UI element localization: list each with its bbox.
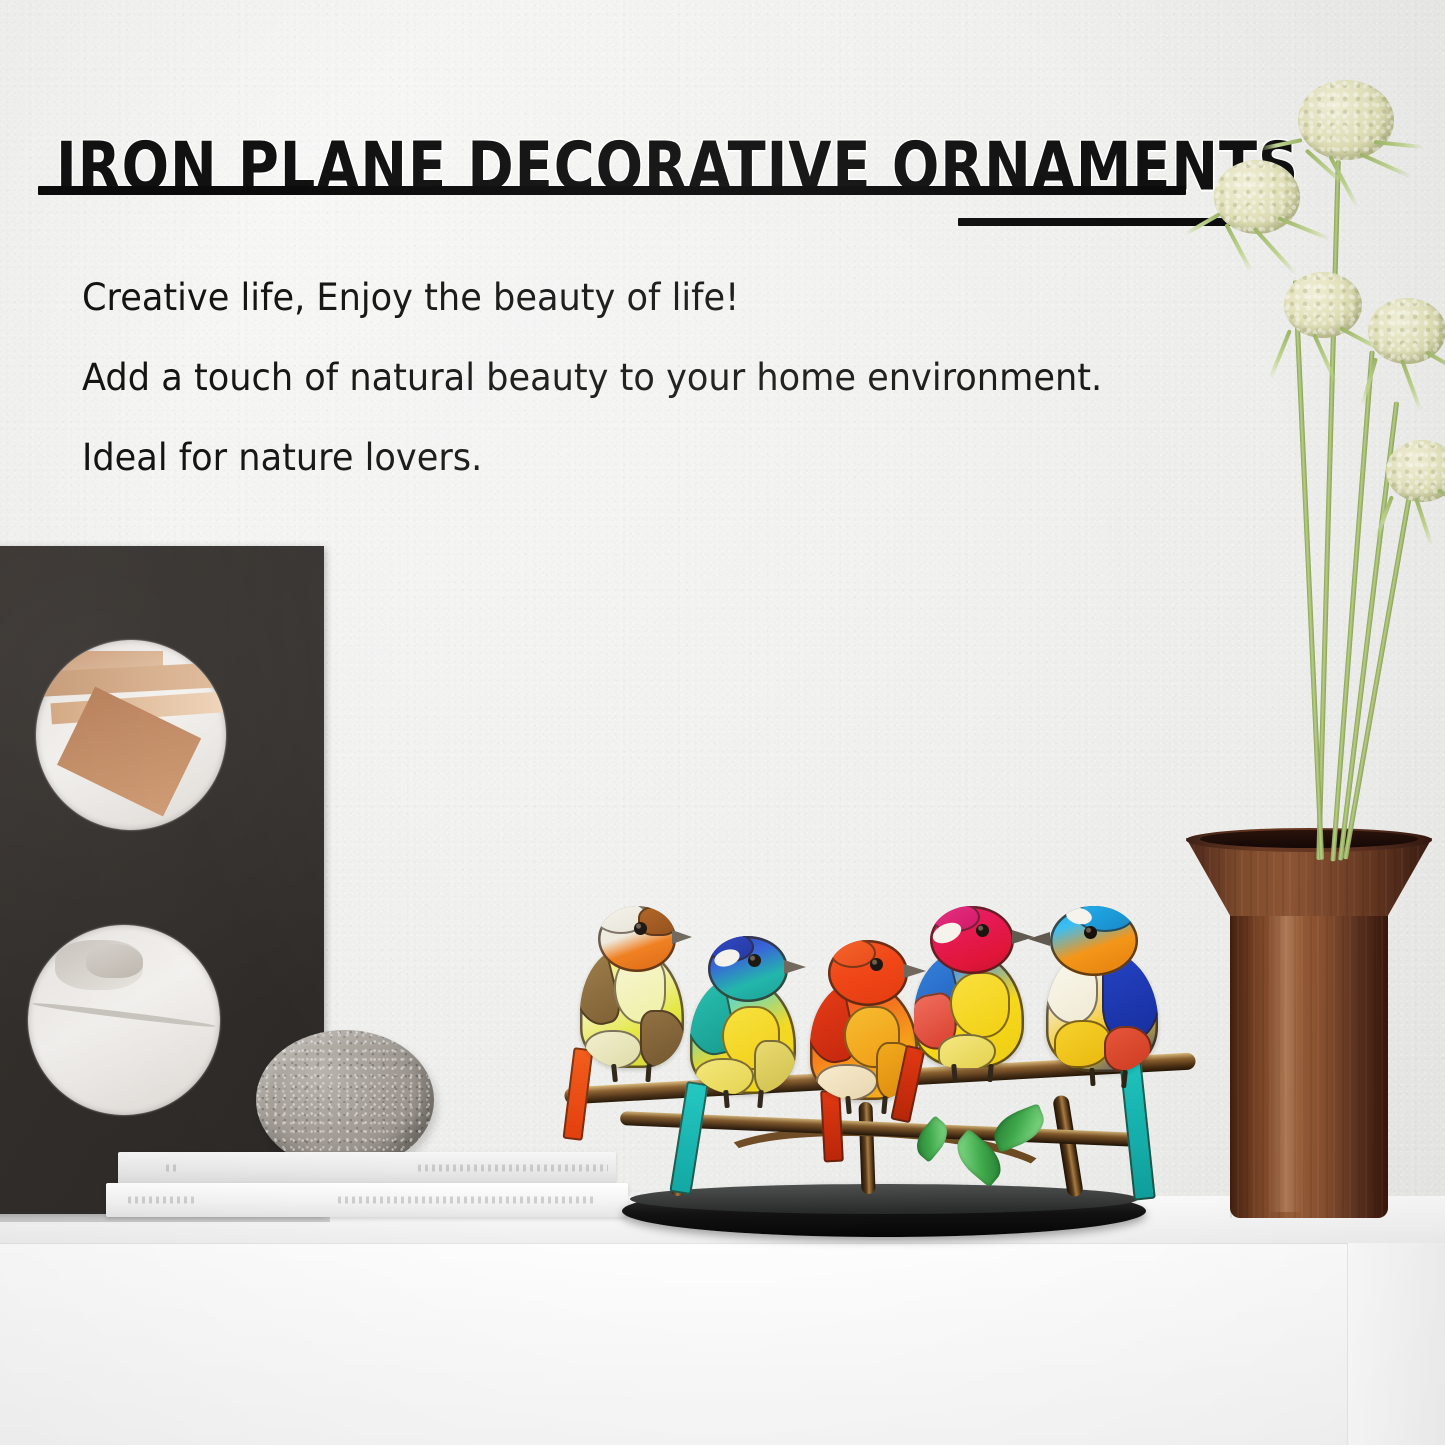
vase-wood-grain xyxy=(1230,908,1388,1218)
flower-bract xyxy=(1425,350,1445,377)
bird-2-head xyxy=(708,936,788,1002)
tagline-line-3: Ideal for nature lovers. xyxy=(82,436,482,479)
bird-2-eye xyxy=(748,954,761,967)
flower-bract xyxy=(1414,497,1433,546)
bird-5-beak xyxy=(1028,932,1050,946)
bird-1-beak xyxy=(672,930,692,944)
bird-2-foot xyxy=(757,1090,764,1108)
bird-3-foot xyxy=(881,1096,888,1114)
wooden-vase xyxy=(1186,828,1432,1228)
flower-bract xyxy=(1374,140,1424,149)
book-upper xyxy=(118,1152,616,1184)
flower-bract xyxy=(1328,155,1359,208)
dried-flower-arrangement xyxy=(1180,40,1445,850)
bird-ornament-sculpture xyxy=(560,890,1200,1250)
pebble-texture xyxy=(256,1030,434,1170)
flower-petal-cluster xyxy=(1386,440,1445,502)
bird-2-flank xyxy=(754,1040,796,1094)
bird-4-belly-panel xyxy=(938,1034,996,1068)
round-mirror-top xyxy=(36,640,226,830)
tagline-line-2: Add a touch of natural beauty to your ho… xyxy=(82,356,1102,399)
mirror-reflection-shape xyxy=(86,944,144,978)
flower-bract xyxy=(1437,488,1445,515)
table-seam xyxy=(1347,1243,1348,1445)
flower-petal-cluster xyxy=(1298,80,1394,160)
book-spine-mark xyxy=(338,1197,594,1204)
flower-stem xyxy=(1293,280,1324,860)
bird-3-tail xyxy=(820,1090,844,1163)
flower-bract xyxy=(1184,212,1221,235)
flower-petal-cluster xyxy=(1284,272,1362,338)
product-marketing-image: IRON PLANE DECORATIVE ORNAMENTS Creative… xyxy=(0,0,1445,1445)
flower-bract xyxy=(1269,329,1292,379)
flower-bract xyxy=(1359,152,1412,178)
round-mirror-bottom xyxy=(28,925,220,1115)
bird-5-flank xyxy=(1104,1026,1152,1072)
bird-2-beak xyxy=(784,960,806,974)
decorative-pebble xyxy=(256,1030,434,1170)
flower-bract xyxy=(1253,227,1297,276)
flower-bract xyxy=(1259,138,1303,151)
bird-1-belly-panel xyxy=(584,1030,642,1068)
book-spine-mark xyxy=(166,1165,180,1172)
vase-body xyxy=(1230,908,1388,1218)
bird-5-eye xyxy=(1084,926,1097,939)
flower-bract xyxy=(1400,359,1422,411)
flower-bract xyxy=(1277,216,1330,241)
table-front-panel xyxy=(0,1243,1445,1445)
bird-3-eye xyxy=(870,958,883,971)
bird-2-belly-panel xyxy=(694,1058,754,1094)
book-spine-mark xyxy=(128,1197,194,1204)
table-corner-panel xyxy=(1347,1243,1445,1445)
vase-highlight xyxy=(1268,914,1303,1212)
bird-4-head xyxy=(930,906,1014,974)
bird-1-wing-lower xyxy=(640,1010,684,1068)
bird-5-head xyxy=(1050,906,1138,976)
bird-1-eye xyxy=(634,922,647,935)
bird-4-breast-panel xyxy=(950,972,1010,1038)
bird-1-head xyxy=(598,906,676,972)
flower-stem xyxy=(1316,160,1341,860)
mirror-reflection-shape xyxy=(32,1001,216,1029)
book-lower xyxy=(106,1183,628,1217)
bird-3-head xyxy=(828,940,908,1006)
bird-4-eye xyxy=(976,924,989,937)
tagline-line-1: Creative life, Enjoy the beauty of life! xyxy=(82,276,739,319)
title-underline-primary xyxy=(38,186,1186,195)
bird-1-foot xyxy=(645,1064,651,1082)
bird-3-belly-panel xyxy=(816,1064,878,1100)
branch-leaf xyxy=(988,1103,1050,1153)
